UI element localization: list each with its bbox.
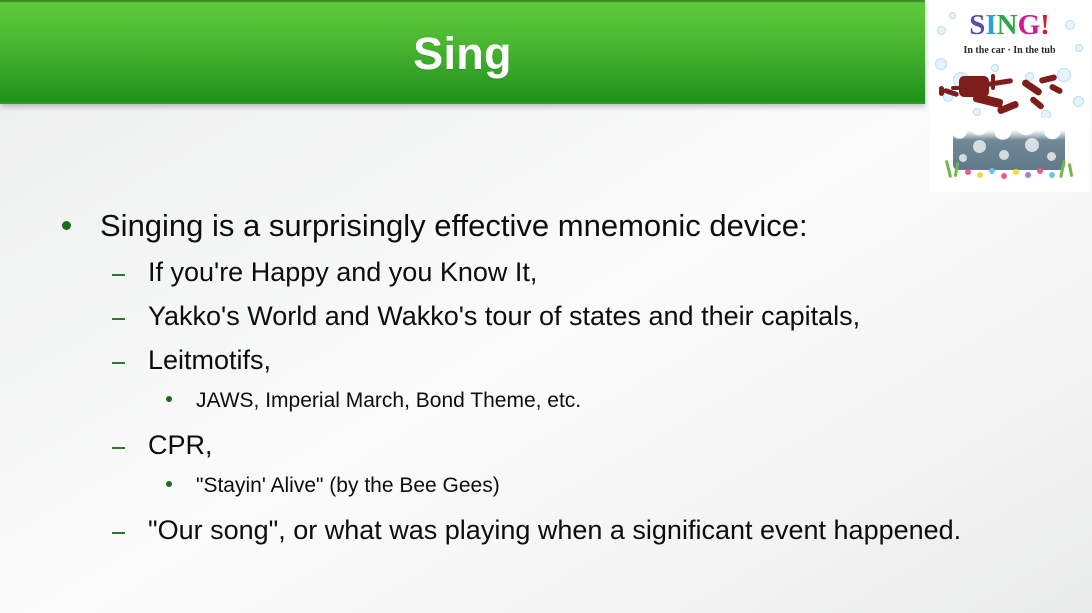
bubble-icon [991, 64, 999, 72]
flower-icon [977, 172, 983, 178]
list-item[interactable]: Singing is a surprisingly effective mnem… [0, 206, 1092, 254]
sing-book-cover-image: SING! In the car · In the tub [929, 0, 1090, 192]
cover-letter-g: G [1018, 9, 1041, 41]
bubble-icon [1057, 68, 1071, 82]
cover-letter-n: N [997, 9, 1018, 41]
bather-hand-left [939, 86, 944, 96]
bullet-dot-icon [166, 474, 196, 492]
bubble-icon [935, 58, 947, 70]
flower-icon [965, 169, 971, 175]
list-item[interactable]: Yakko's World and Wakko's tour of states… [0, 298, 1092, 342]
cover-wordmark: SING! [929, 10, 1090, 40]
flower-icon [1001, 173, 1007, 179]
flower-icon [1049, 172, 1055, 178]
list-item[interactable]: Leitmotifs, [0, 342, 1092, 386]
presentation-slide: Sing SING! In the car · In the tub [0, 0, 1092, 613]
cover-subtitle: In the car · In the tub [929, 45, 1090, 56]
bath-foam [947, 118, 1071, 140]
leaf-icon [954, 162, 960, 177]
cover-letter-i: I [985, 9, 996, 41]
slide-title-banner: Sing [0, 0, 925, 104]
leaf-icon [1059, 160, 1066, 178]
cover-letter-exclaim: ! [1040, 9, 1050, 41]
bather-foot [1029, 96, 1045, 111]
list-item-text: "Stayin' Alive" (by the Bee Gees) [196, 471, 500, 501]
flower-icon [1013, 169, 1019, 175]
dash-icon [112, 436, 148, 454]
flower-border [943, 160, 1077, 182]
list-item[interactable]: "Our song", or what was playing when a s… [0, 512, 1092, 556]
cover-letter-s: S [969, 9, 985, 41]
bullet-dot-icon [62, 217, 100, 235]
flower-icon [1025, 172, 1031, 178]
list-item-text: JAWS, Imperial March, Bond Theme, etc. [196, 386, 581, 416]
list-item[interactable]: If you're Happy and you Know It, [0, 254, 1092, 298]
leaf-icon [945, 160, 952, 178]
dash-icon [112, 351, 148, 369]
cover-artwork: SING! In the car · In the tub [929, 0, 1090, 192]
bather-arm-right [1039, 74, 1058, 84]
list-item-text: If you're Happy and you Know It, [148, 254, 537, 290]
flower-icon [989, 168, 995, 174]
bubble-icon [973, 108, 981, 116]
bubble-icon [1073, 96, 1084, 107]
bather-hand-right [1048, 83, 1063, 95]
list-item-text: "Our song", or what was playing when a s… [148, 512, 961, 548]
foam-bubble [973, 140, 986, 153]
bather-detail [991, 74, 995, 90]
dash-icon [112, 263, 148, 281]
list-item[interactable]: "Stayin' Alive" (by the Bee Gees) [0, 471, 1092, 512]
foam-bubble [999, 150, 1009, 160]
slide-title: Sing [0, 30, 925, 78]
dash-icon [112, 521, 148, 539]
list-item-text: Singing is a surprisingly effective mnem… [100, 206, 808, 246]
list-item[interactable]: CPR, [0, 427, 1092, 471]
list-item-text: CPR, [148, 427, 213, 463]
list-item-text: Yakko's World and Wakko's tour of states… [148, 298, 860, 334]
foam-bubble [1025, 138, 1039, 152]
leaf-icon [1068, 163, 1073, 177]
dash-icon [112, 307, 148, 325]
list-item[interactable]: JAWS, Imperial March, Bond Theme, etc. [0, 386, 1092, 427]
list-item-text: Leitmotifs, [148, 342, 271, 378]
slide-body: Singing is a surprisingly effective mnem… [0, 206, 1092, 556]
flower-icon [1037, 168, 1043, 174]
bullet-dot-icon [166, 389, 196, 407]
